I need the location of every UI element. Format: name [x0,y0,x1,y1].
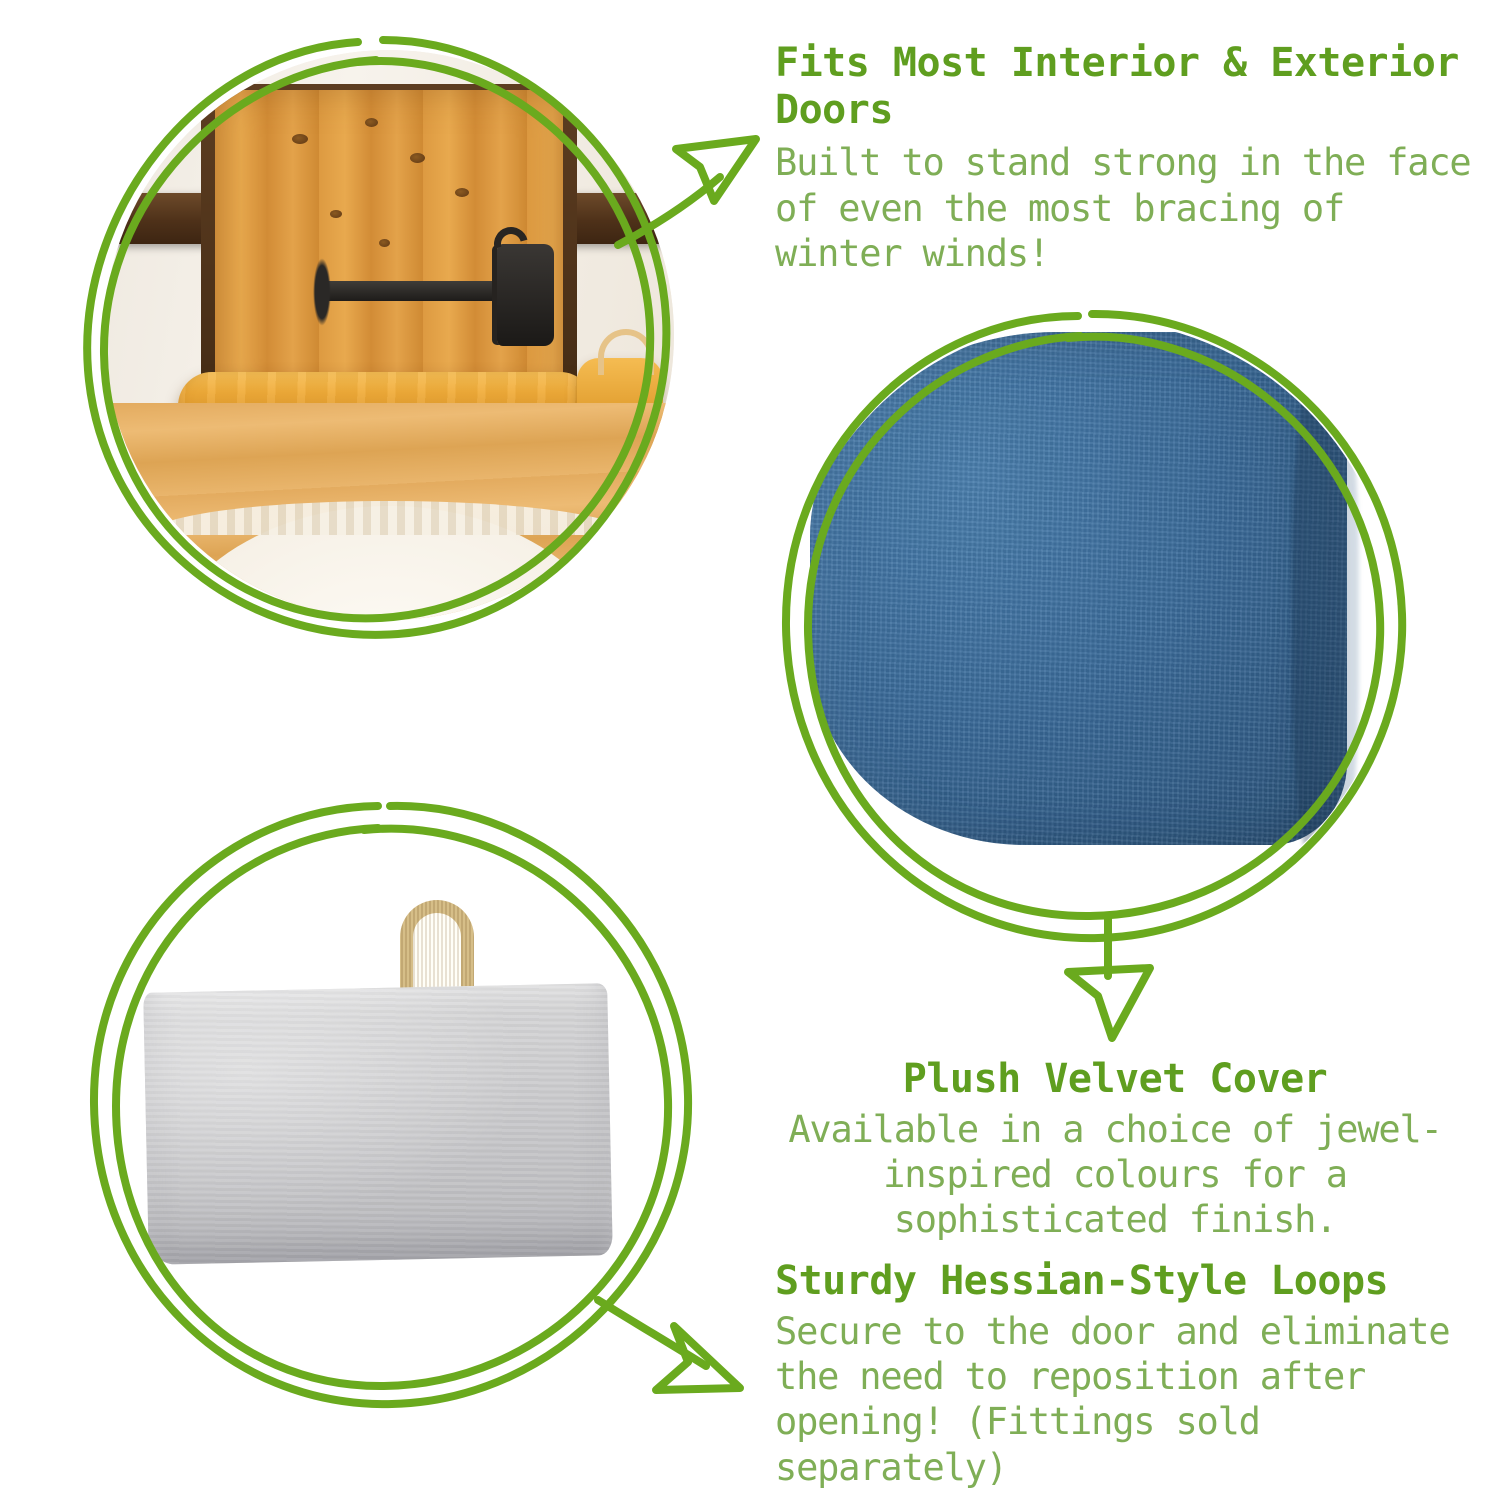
sketch-circle-frame [762,296,1442,956]
feature-heading-fits-most-doors: Fits Most Interior & Exterior Doors [775,40,1475,134]
infographic-canvas: Fits Most Interior & Exterior Doors Buil… [0,0,1500,1500]
feature-text-sturdy-hessian-loops: Sturdy Hessian-Style Loops Secure to the… [775,1258,1485,1490]
arrow-top-right [600,105,800,255]
arrow-bottom-right [588,1270,788,1430]
feature-heading-plush-velvet-cover: Plush Velvet Cover [760,1056,1470,1103]
feature-body-sturdy-hessian-loops: Secure to the door and eliminate the nee… [775,1309,1485,1490]
feature-text-plush-velvet-cover: Plush Velvet Cover Available in a choice… [760,1056,1470,1243]
feature-text-fits-most-doors: Fits Most Interior & Exterior Doors Buil… [775,40,1475,276]
feature-image-frame-plush-velvet-cover [762,296,1442,956]
arrow-down [1040,910,1200,1050]
feature-heading-sturdy-hessian-loops: Sturdy Hessian-Style Loops [775,1258,1485,1305]
feature-body-plush-velvet-cover: Available in a choice of jewel-inspired … [760,1107,1470,1242]
feature-body-fits-most-doors: Built to stand strong in the face of eve… [775,140,1475,275]
